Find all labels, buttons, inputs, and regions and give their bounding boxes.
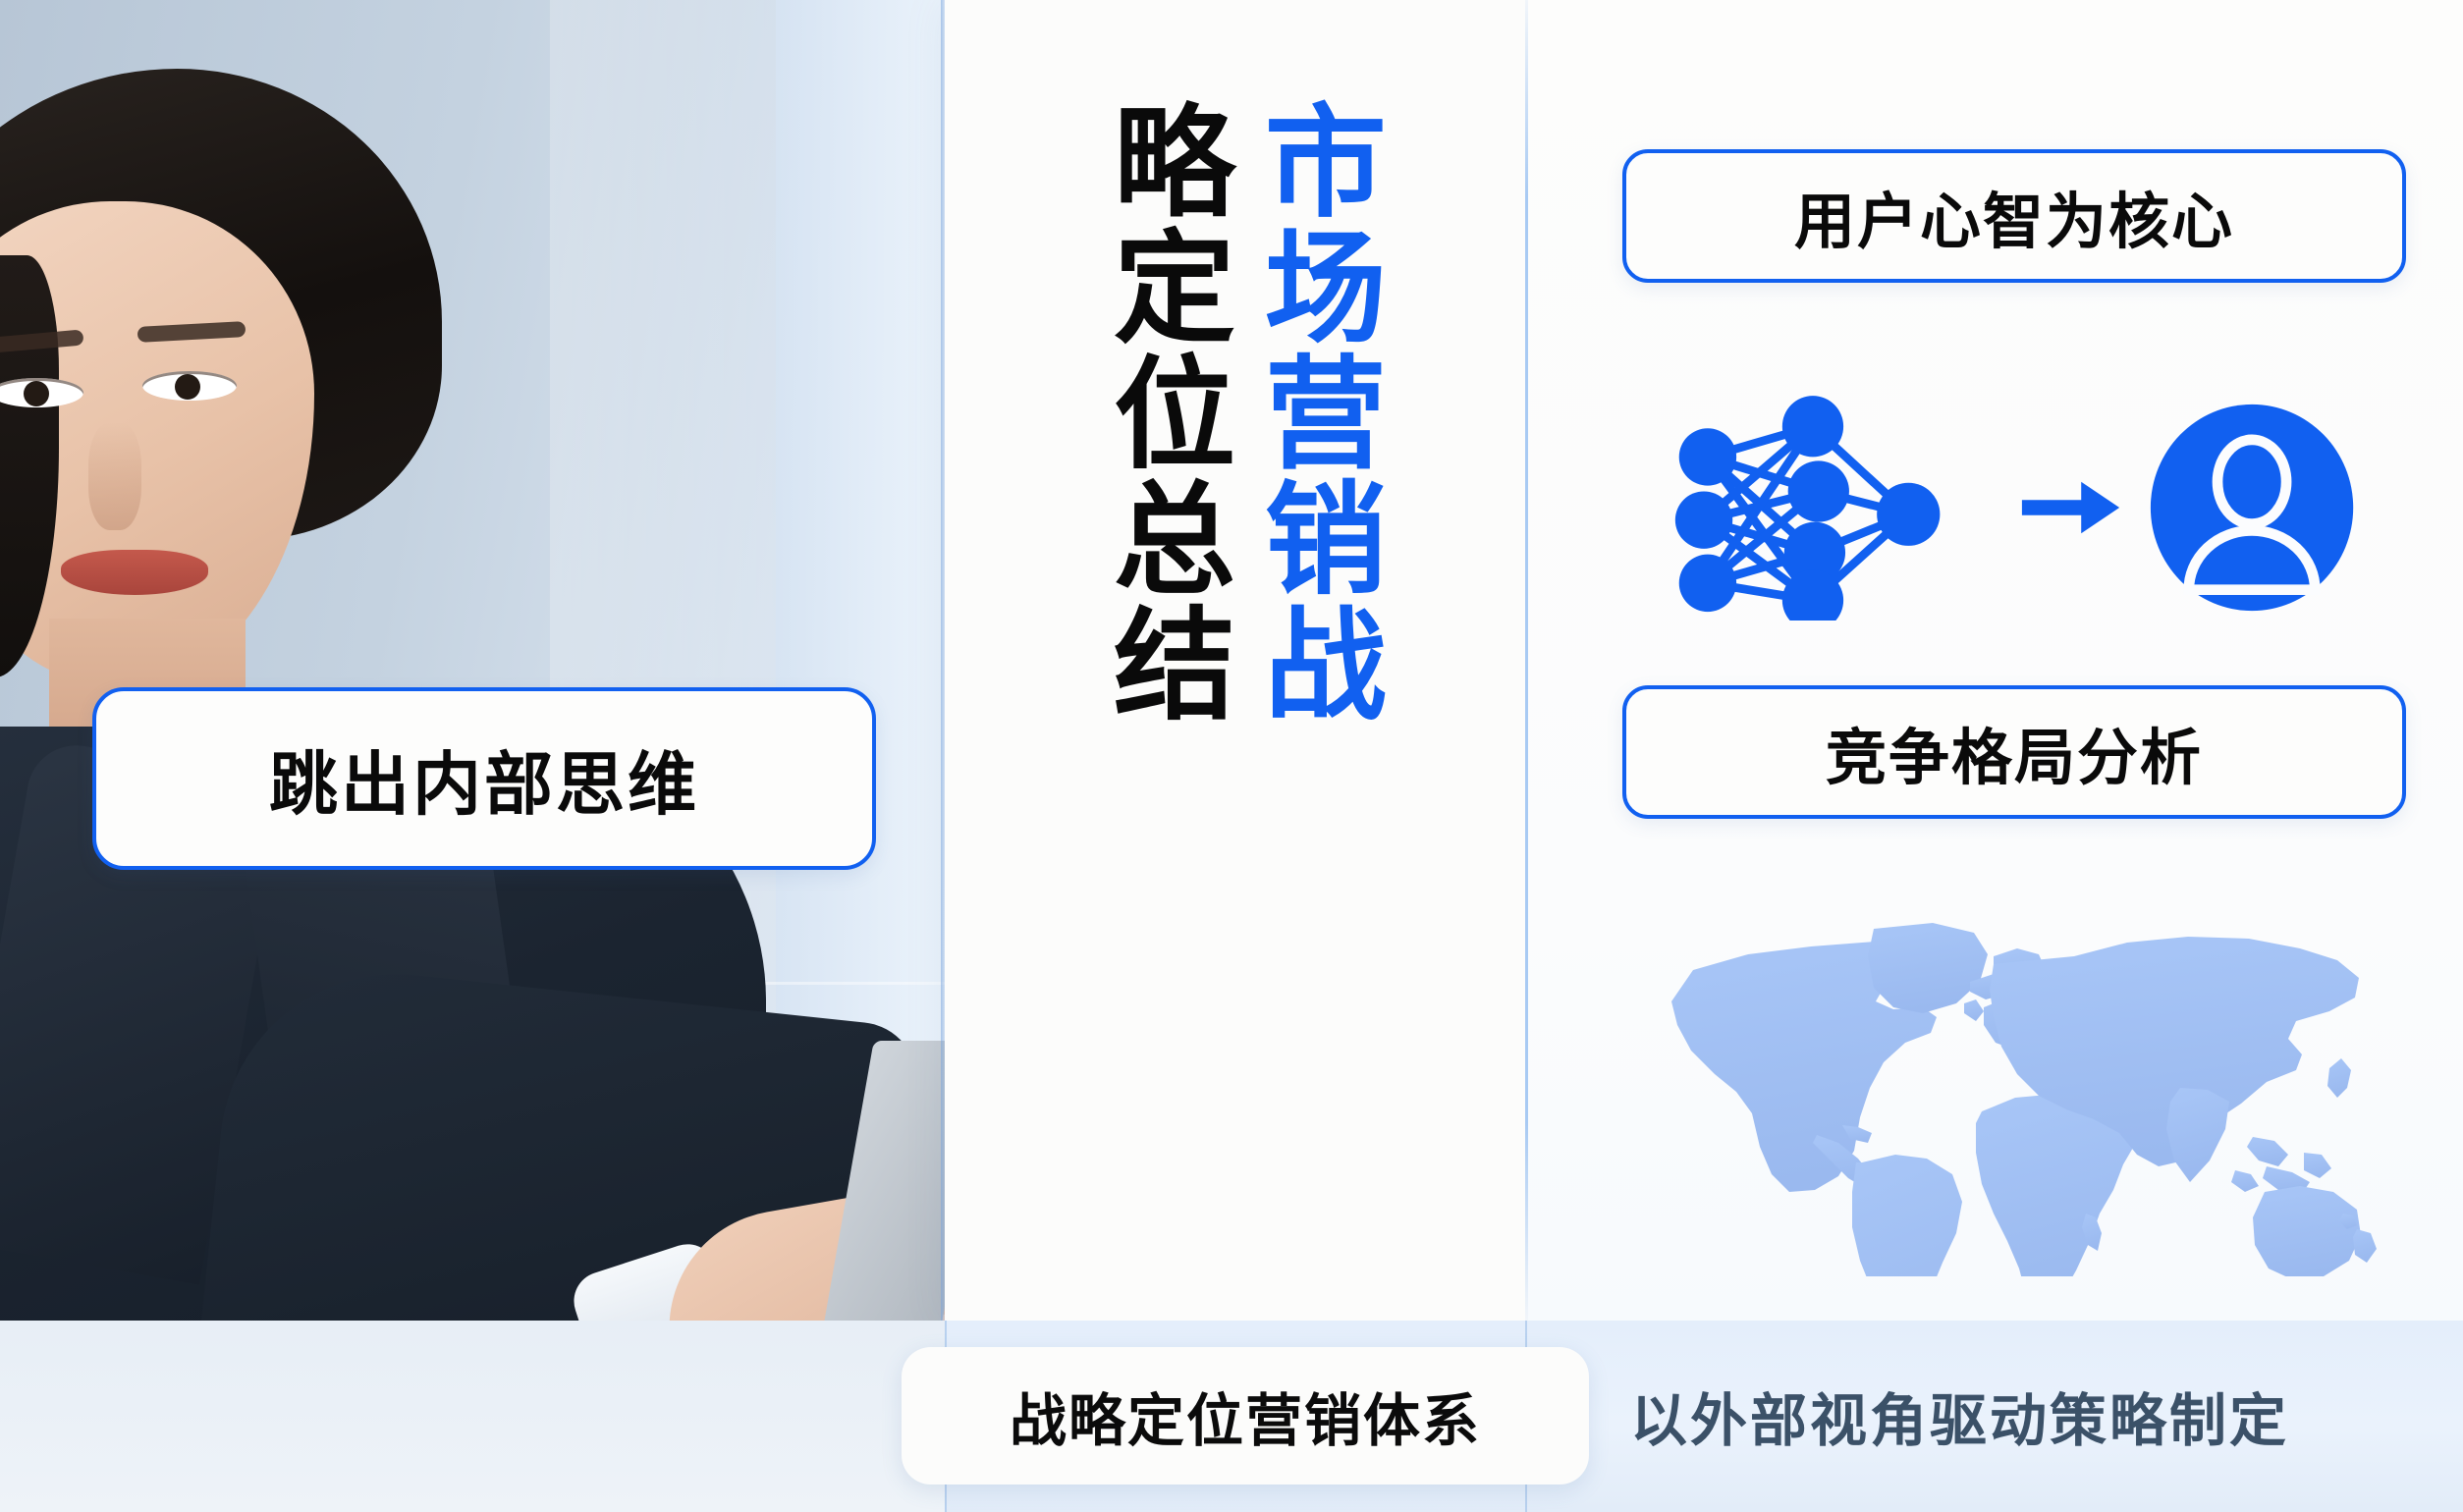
title-column-blue: 市场营销战 bbox=[1250, 98, 1376, 727]
arrow-right-icon bbox=[2018, 473, 2123, 542]
user-avatar-icon bbox=[2147, 400, 2357, 616]
right-pill-user-mind[interactable]: 用户心智为核心 bbox=[1622, 149, 2406, 283]
world-map-icon bbox=[1669, 913, 2377, 1276]
title-column-black: 略定位总结 bbox=[1099, 98, 1225, 727]
world-map bbox=[1669, 913, 2377, 1276]
poster-title: 市场营销战 略定位总结 bbox=[982, 98, 1493, 785]
left-feature-pill[interactable]: 跳出内部思维 bbox=[92, 687, 876, 870]
poster-root: 跳出内部思维 市场营销战 略定位总结 用户心智为核心 bbox=[0, 0, 2463, 1512]
bottom-system-chip[interactable]: 战略定位营销体系 bbox=[902, 1347, 1589, 1485]
left-feature-pill-label: 跳出内部思维 bbox=[269, 729, 699, 829]
bottom-system-chip-label: 战略定位营销体系 bbox=[1010, 1375, 1481, 1457]
pupil-left bbox=[24, 381, 49, 406]
nose bbox=[88, 422, 141, 530]
bottom-tagline: 以外部视角驱动策略制定 bbox=[1630, 1347, 2416, 1485]
neural-network-diagram bbox=[1669, 385, 2357, 630]
lips bbox=[61, 550, 208, 595]
left-photo-panel: 跳出内部思维 bbox=[0, 0, 951, 1512]
neural-network-icon bbox=[1669, 395, 1995, 621]
bottom-tagline-label: 以外部视角驱动策略制定 bbox=[1630, 1375, 2289, 1457]
right-pill-competition-label: 竞争格局分析 bbox=[1826, 708, 2203, 796]
pupil-right bbox=[175, 374, 200, 400]
right-pill-competition[interactable]: 竞争格局分析 bbox=[1622, 685, 2406, 819]
bottom-bar-left-section bbox=[0, 1321, 945, 1512]
right-pill-user-mind-label: 用户心智为核心 bbox=[1794, 172, 2234, 260]
